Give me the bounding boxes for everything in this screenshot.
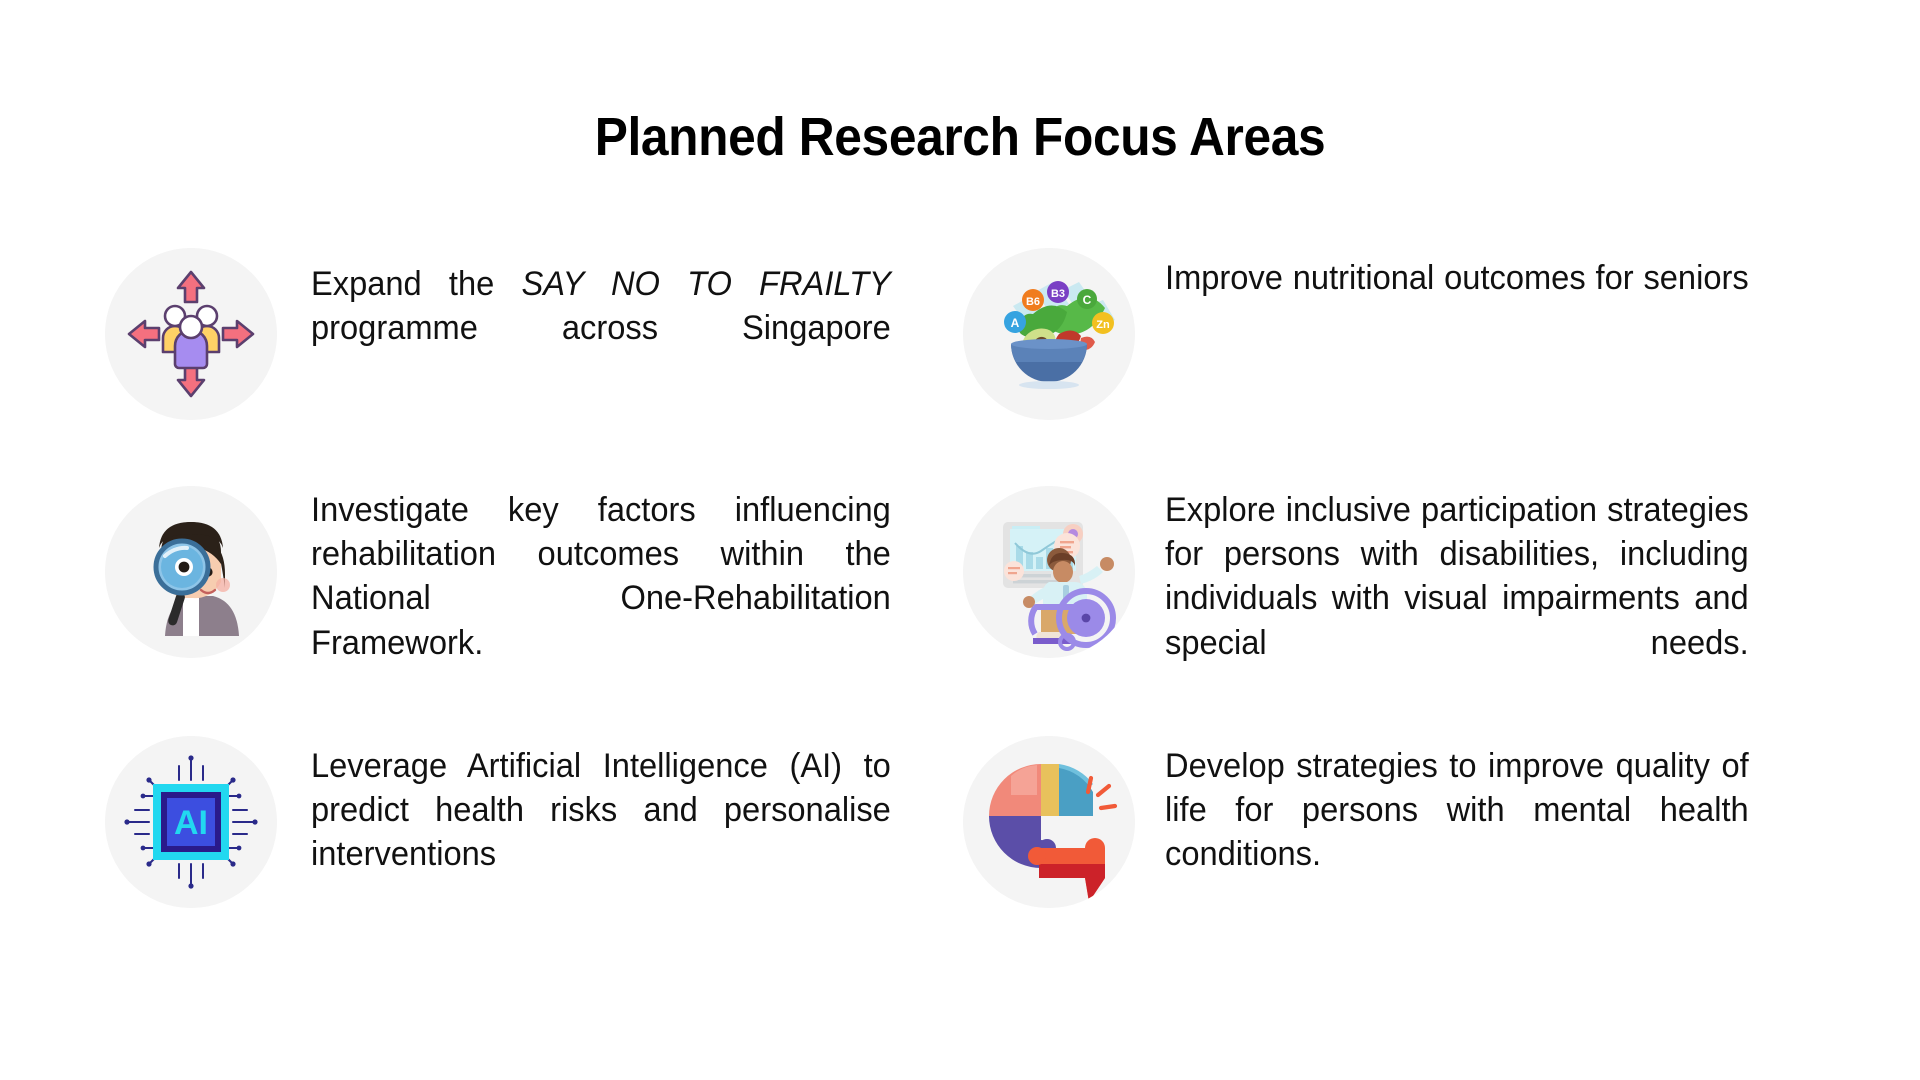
plain-text: Leverage Artificial Intelligence (AI) to… [311,747,891,873]
focus-item-inclusive-participation[interactable]: Explore inclusive participation strategi… [963,486,1773,709]
vitamin-badge-b3: B3 [1051,288,1065,300]
column-left: Expand the SAY NO TO FRAILTY programme a… [105,248,915,988]
column-right: A B6 B3 C Zn Improve nutritional [963,248,1773,988]
focus-item-rehab-factors[interactable]: Investigate key factors influencing reha… [105,486,915,709]
plain-text: Investigate key factors influencing reha… [311,491,891,662]
nutrition-bowl-vitamins-icon: A B6 B3 C Zn [963,248,1135,420]
page-title: Planned Research Focus Areas [77,108,1843,166]
focus-item-nutrition[interactable]: A B6 B3 C Zn Improve nutritional [963,248,1773,420]
plain-text: Develop strategies to improve quality of… [1165,747,1749,873]
slide-canvas: Planned Research Focus Areas [0,0,1920,1080]
vitamin-badge-a: A [1011,316,1020,330]
vitamin-badge-c: C [1083,293,1092,307]
emphasised-text: SAY NO TO FRAILTY [521,265,890,303]
focus-item-mental-health[interactable]: Develop strategies to improve quality of… [963,736,1773,921]
focus-item-ai-prediction[interactable]: AI Leverage Artificial Intelligence (AI)… [105,736,915,921]
ai-chip-label: AI [174,804,208,842]
focus-item-text: Improve nutritional outcomes for seniors [1165,248,1749,344]
plain-text: Explore inclusive participation strategi… [1165,491,1749,662]
people-expand-arrows-icon [105,248,277,420]
focus-item-text: Expand the SAY NO TO FRAILTY programme a… [311,248,891,395]
ai-chip-icon: AI [105,736,277,908]
focus-item-text: Develop strategies to improve quality of… [1165,736,1749,921]
focus-item-text: Explore inclusive participation strategi… [1165,486,1749,709]
vitamin-badge-zn: Zn [1096,319,1110,331]
focus-item-text: Leverage Artificial Intelligence (AI) to… [311,736,891,921]
researcher-magnifier-icon [105,486,277,658]
wheelchair-presentation-icon [963,486,1135,658]
focus-item-text: Investigate key factors influencing reha… [311,486,891,709]
vitamin-badge-b6: B6 [1026,296,1040,308]
plain-text: Improve nutritional outcomes for seniors [1165,259,1749,297]
focus-item-expand-say-no-to-frailty[interactable]: Expand the SAY NO TO FRAILTY programme a… [105,248,915,420]
focus-areas-grid: Expand the SAY NO TO FRAILTY programme a… [0,248,1920,988]
plain-text: programme across Singapore [311,309,891,347]
plain-text: Expand the [311,265,521,303]
mental-health-puzzle-speech-icon [963,736,1135,908]
